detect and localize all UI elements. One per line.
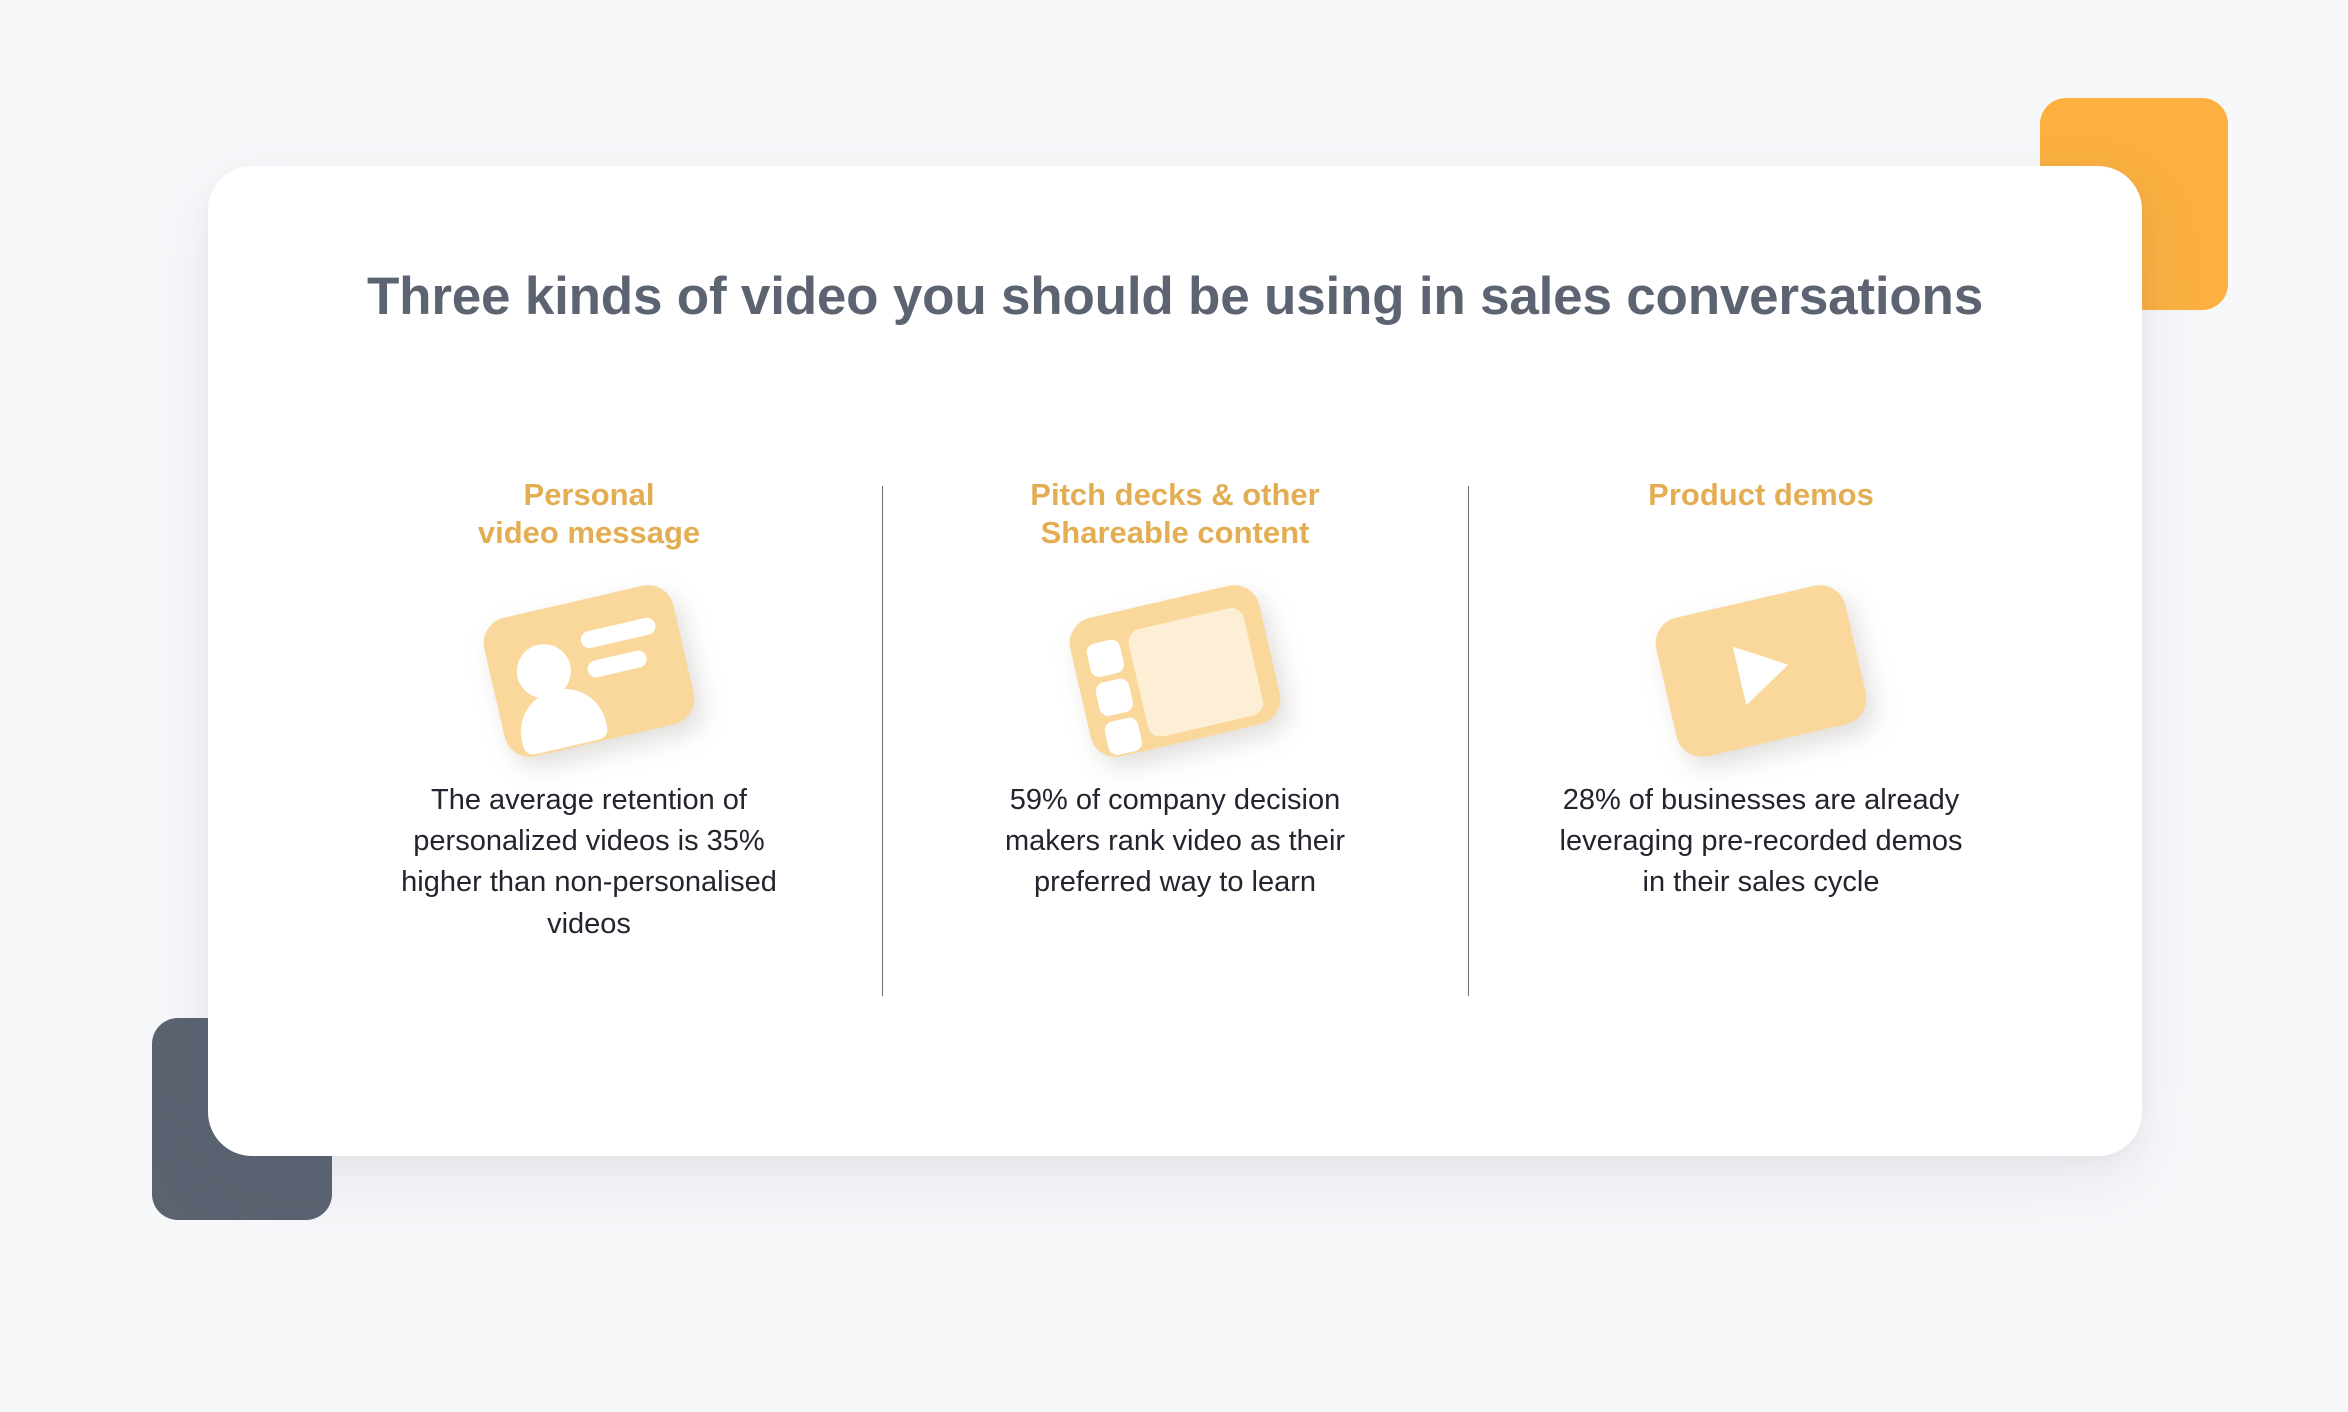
column-body-text: 59% of company decision makers rank vide…	[960, 780, 1390, 904]
column-heading-line-2: video message	[478, 515, 700, 550]
column-heading: Personal video message	[478, 476, 700, 554]
column-body-text: 28% of businesses are already leveraging…	[1546, 780, 1976, 904]
column-heading-line-1: Pitch decks & other	[1030, 477, 1319, 512]
page-title: Three kinds of video you should be using…	[208, 266, 2142, 327]
column-heading-line-1: Product demos	[1648, 477, 1874, 512]
column-product-demos: Product demos 28% of businesses are alre…	[1468, 476, 2054, 904]
slide-thumbnail	[1085, 638, 1126, 679]
column-heading-line-1: Personal	[524, 477, 655, 512]
text-line-bar	[579, 616, 657, 650]
slide-main-panel	[1126, 605, 1266, 739]
column-heading: Product demos	[1648, 476, 1874, 554]
slide-thumbnail	[1094, 677, 1135, 718]
contact-card-icon	[479, 580, 700, 762]
column-personal-video-message: Personal video message The average reten…	[296, 476, 882, 945]
slide-deck-icon	[1065, 580, 1286, 762]
infographic-card: Three kinds of video you should be using…	[208, 166, 2142, 1156]
icon-container	[1502, 562, 2020, 780]
icon-container	[916, 562, 1434, 780]
text-line-bar	[586, 649, 648, 679]
play-video-icon	[1651, 580, 1872, 762]
slide-thumbnail	[1103, 716, 1144, 757]
column-pitch-decks: Pitch decks & other Shareable content 59…	[882, 476, 1468, 904]
column-heading-line-2: Shareable content	[1041, 515, 1310, 550]
icon-container	[330, 562, 848, 780]
columns-container: Personal video message The average reten…	[296, 476, 2054, 945]
column-heading: Pitch decks & other Shareable content	[1030, 476, 1319, 554]
play-triangle-shape	[1733, 635, 1795, 705]
column-body-text: The average retention of personalized vi…	[374, 780, 804, 945]
